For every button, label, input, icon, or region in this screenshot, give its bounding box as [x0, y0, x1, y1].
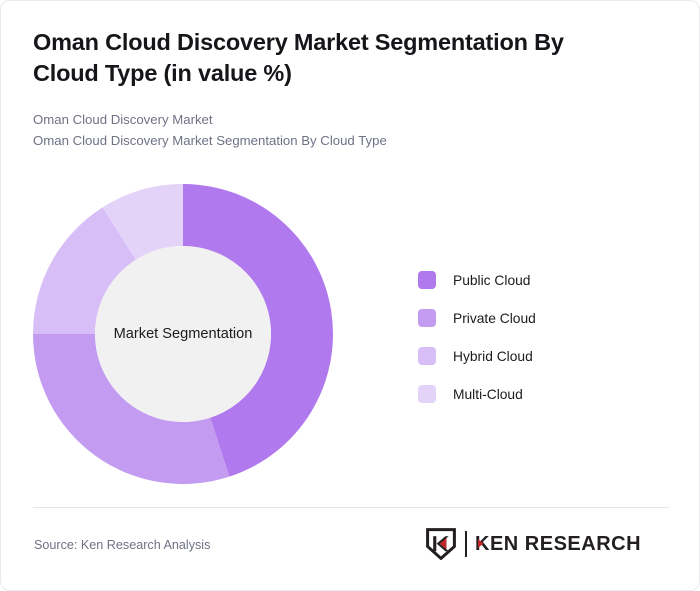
legend-swatch-private-cloud — [418, 309, 436, 327]
logo-wordmark: KEN RESEARCH — [475, 531, 671, 557]
legend-item[interactable]: Multi-Cloud — [418, 375, 536, 413]
legend-swatch-multi-cloud — [418, 385, 436, 403]
donut-hole: Market Segmentation — [95, 246, 271, 422]
plot-area: Market Segmentation Public Cloud Private… — [1, 161, 700, 501]
subtitle-group: Oman Cloud Discovery Market Oman Cloud D… — [33, 109, 633, 152]
legend-label-private-cloud: Private Cloud — [453, 311, 536, 326]
legend-label-public-cloud: Public Cloud — [453, 273, 530, 288]
donut-center-label: Market Segmentation — [114, 326, 253, 342]
donut-chart: Market Segmentation — [33, 184, 333, 484]
logo-divider — [465, 531, 467, 557]
chart-header: Oman Cloud Discovery Market Segmentation… — [33, 27, 633, 152]
legend-item[interactable]: Public Cloud — [418, 261, 536, 299]
subtitle-market: Oman Cloud Discovery Market — [33, 109, 633, 130]
legend-label-hybrid-cloud: Hybrid Cloud — [453, 349, 533, 364]
legend-item[interactable]: Private Cloud — [418, 299, 536, 337]
chart-legend: Public Cloud Private Cloud Hybrid Cloud … — [418, 261, 536, 413]
legend-item[interactable]: Hybrid Cloud — [418, 337, 536, 375]
legend-label-multi-cloud: Multi-Cloud — [453, 387, 523, 402]
ken-research-logo: KEN RESEARCH — [426, 524, 671, 564]
subtitle-segmentation: Oman Cloud Discovery Market Segmentation… — [33, 130, 633, 151]
chart-footer: Source: Ken Research Analysis KEN RESEAR… — [1, 507, 700, 591]
chart-card: Oman Cloud Discovery Market Segmentation… — [0, 0, 700, 591]
source-note: Source: Ken Research Analysis — [34, 538, 210, 552]
logo-wordmark-text: KEN RESEARCH — [475, 533, 641, 555]
legend-swatch-public-cloud — [418, 271, 436, 289]
ken-research-shield-icon — [426, 528, 456, 560]
legend-swatch-hybrid-cloud — [418, 347, 436, 365]
page-title: Oman Cloud Discovery Market Segmentation… — [33, 27, 633, 88]
donut-ring: Market Segmentation — [33, 184, 333, 484]
